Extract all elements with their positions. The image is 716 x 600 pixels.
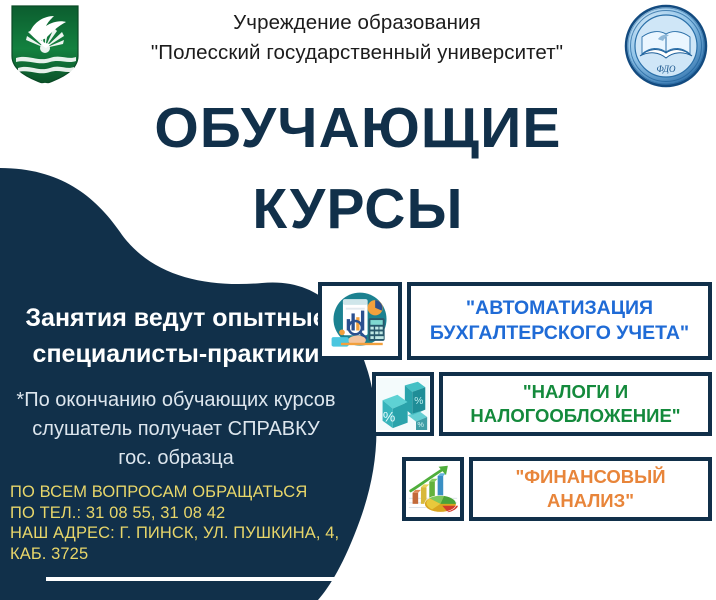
financial-chart-icon <box>407 462 459 516</box>
organization-title: Учреждение образования "Полесский госуда… <box>92 8 622 68</box>
note-line-2: слушатель получает СПРАВКУ <box>8 415 344 444</box>
poster-header: Учреждение образования "Полесский госуда… <box>0 0 716 92</box>
note-line-1: *По окончанию обучающих курсов <box>8 386 344 415</box>
course-title-box: "НАЛОГИ И НАЛОГООБЛОЖЕНИЕ" <box>439 372 712 436</box>
instructors-text-block: Занятия ведут опытные специалисты-практи… <box>0 300 352 473</box>
course-card-financial-analysis[interactable]: "ФИНАНСОВЫЙ АНАЛИЗ" <box>402 457 712 521</box>
course-card-accounting-automation[interactable]: "АВТОМАТИЗАЦИЯ БУХГАЛТЕРСКОГО УЧЕТА" <box>318 282 712 360</box>
bottom-divider-line <box>46 577 526 581</box>
title-line-1: ОБУЧАЮЩИЕ <box>0 96 716 160</box>
note-line-3: гос. образца <box>8 444 344 473</box>
accounting-automation-icon <box>324 287 396 355</box>
contact-line-1: ПО ВСЕМ ВОПРОСАМ ОБРАЩАТЬСЯ <box>10 482 350 503</box>
course-title-box: "АВТОМАТИЗАЦИЯ БУХГАЛТЕРСКОГО УЧЕТА" <box>407 282 712 360</box>
poster-main-title: ОБУЧАЮЩИЕ КУРСЫ <box>0 96 716 241</box>
org-line-2: "Полесский государственный университет" <box>92 38 622 68</box>
svg-text:%: % <box>414 396 423 407</box>
org-line-1: Учреждение образования <box>92 8 622 38</box>
poster-canvas: Учреждение образования "Полесский госуда… <box>0 0 716 600</box>
contact-line-3: НАШ АДРЕС: Г. ПИНСК, УЛ. ПУШКИНА, 4, <box>10 523 350 544</box>
seal-abbreviation: ФДО <box>656 64 676 74</box>
course-1-line-2: БУХГАЛТЕРСКОГО УЧЕТА" <box>430 321 689 346</box>
lead-line-2: специалисты-практики <box>6 336 346 372</box>
course-2-line-2: НАЛОГООБЛОЖЕНИЕ" <box>470 404 680 428</box>
contact-line-4: КАБ. 3725 <box>10 544 350 565</box>
course-icon-box: % % % <box>372 372 434 436</box>
course-3-line-2: АНАЛИЗ" <box>516 489 666 513</box>
course-card-taxes[interactable]: % % % "НАЛОГИ <box>372 372 712 436</box>
course-title-box: "ФИНАНСОВЫЙ АНАЛИЗ" <box>469 457 712 521</box>
course-1-line-1: "АВТОМАТИЗАЦИЯ <box>430 296 689 321</box>
polessky-coat-of-arms-icon <box>6 2 84 86</box>
title-line-2: КУРСЫ <box>0 177 716 241</box>
svg-text:%: % <box>383 409 395 425</box>
lead-line-1: Занятия ведут опытные <box>6 300 346 336</box>
certificate-note: *По окончанию обучающих курсов слушатель… <box>0 386 352 473</box>
lead-text: Занятия ведут опытные специалисты-практи… <box>0 300 352 372</box>
course-2-line-1: "НАЛОГИ И <box>470 380 680 404</box>
fdo-seal-icon: ФДО <box>624 4 708 88</box>
contact-info-block: ПО ВСЕМ ВОПРОСАМ ОБРАЩАТЬСЯ ПО ТЕЛ.: 31 … <box>10 482 350 564</box>
contact-line-2: ПО ТЕЛ.: 31 08 55, 31 08 42 <box>10 503 350 524</box>
percent-cubes-icon: % % % <box>377 377 429 431</box>
svg-text:%: % <box>417 420 424 429</box>
course-icon-box <box>402 457 464 521</box>
course-3-line-1: "ФИНАНСОВЫЙ <box>516 465 666 489</box>
course-icon-box <box>318 282 402 360</box>
